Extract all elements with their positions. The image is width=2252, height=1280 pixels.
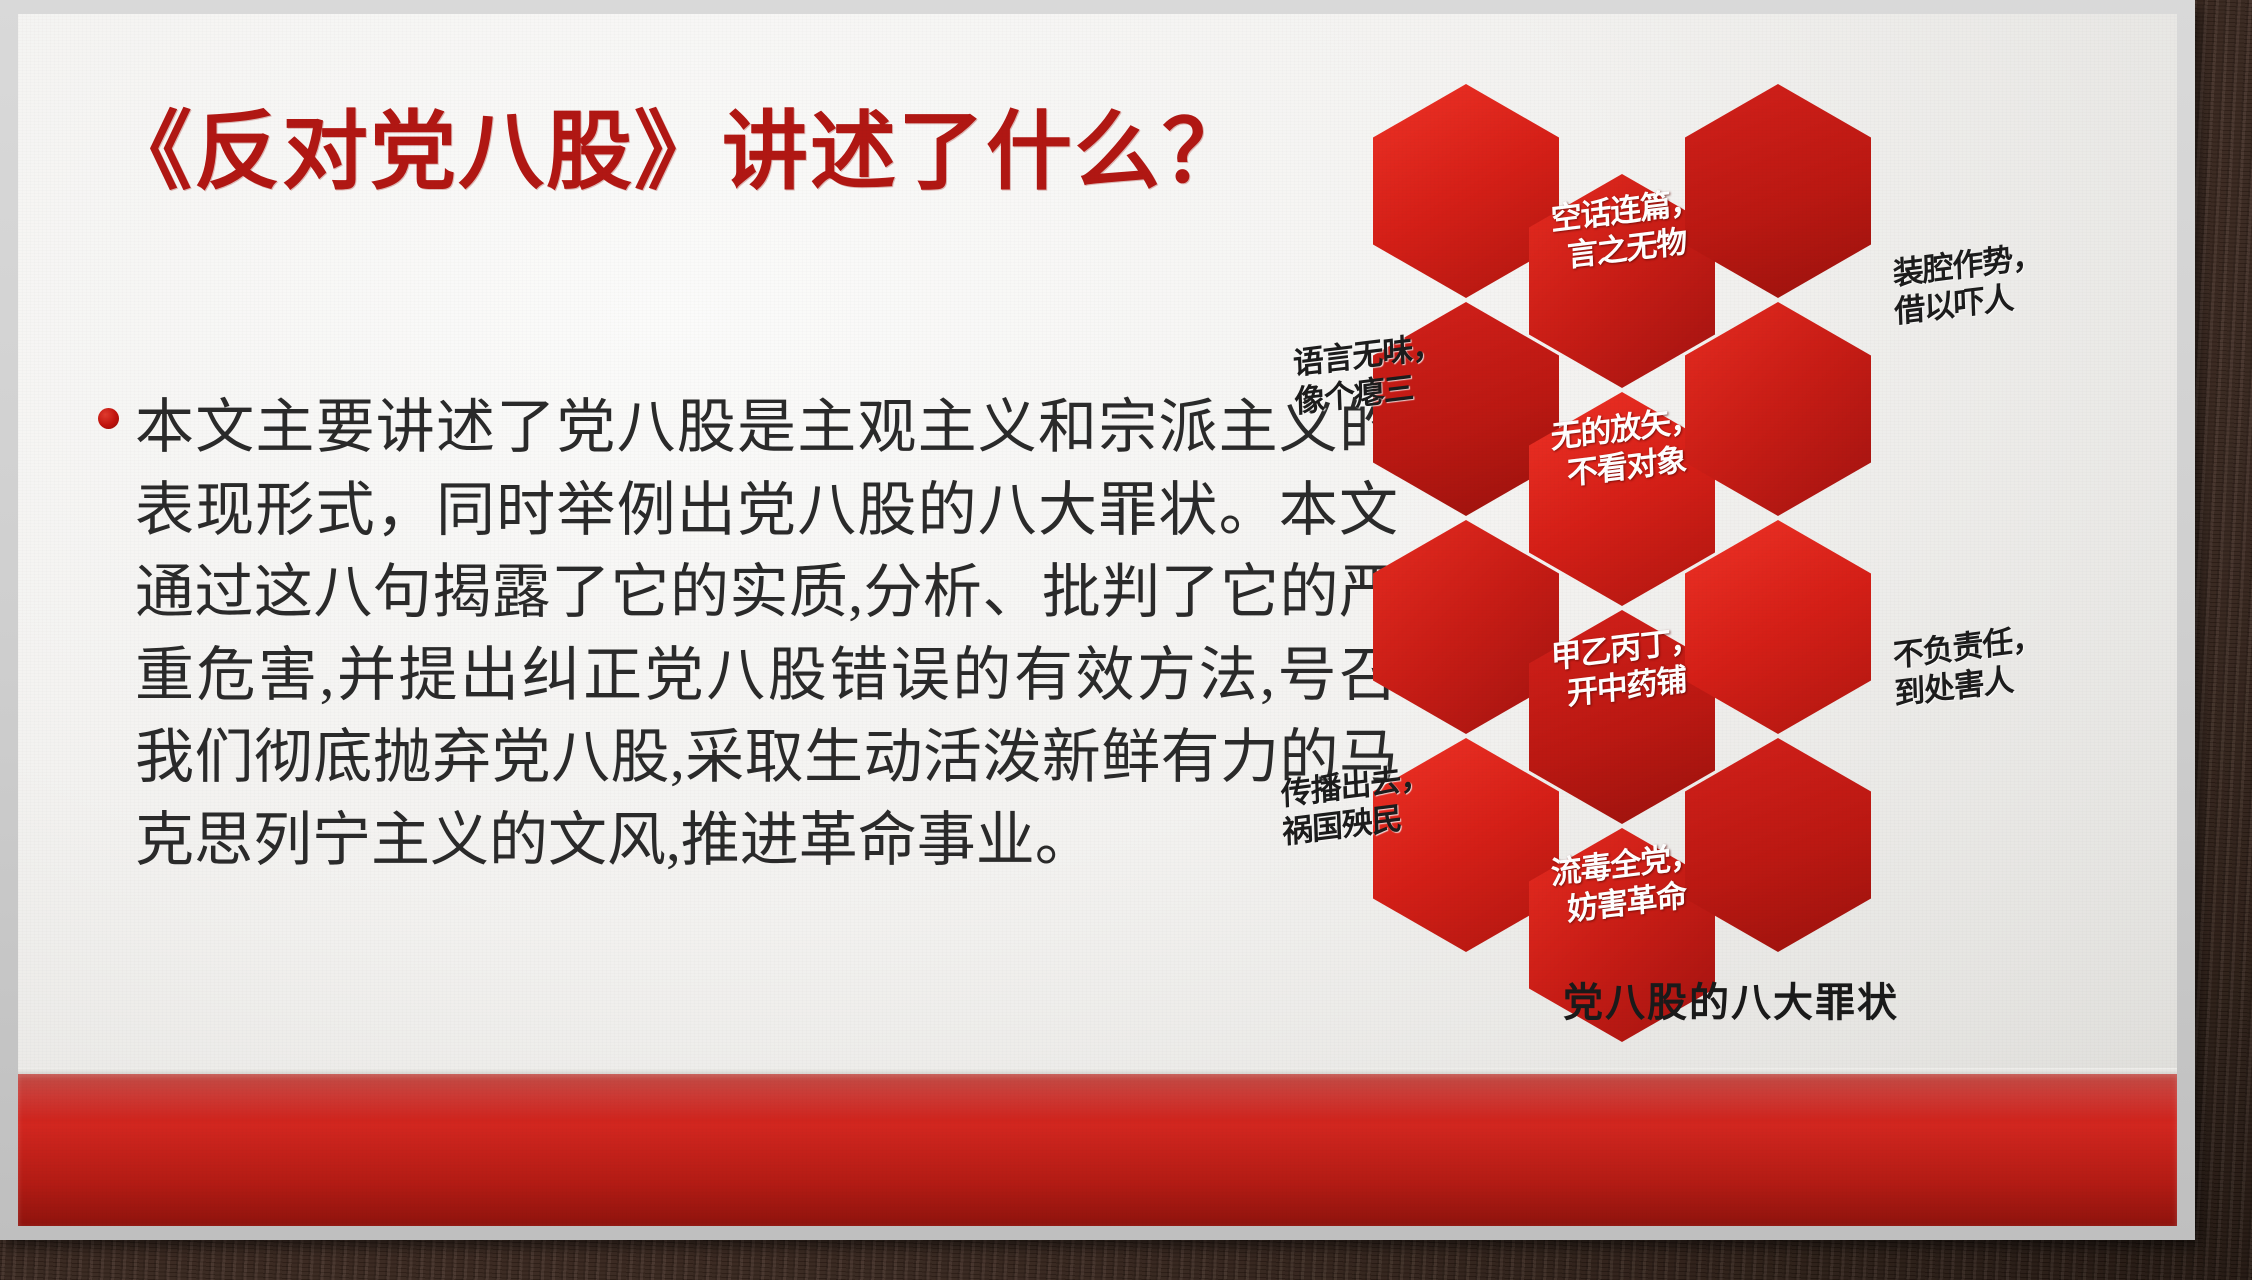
hex-label-zhuang-qiang-zuo-shi: 装腔作势， 借以吓人 — [1892, 232, 2083, 332]
body-paragraph: 本文主要讲述了党八股是主观主义和宗派主义的表现形式，同时举例出党八股的八大罪状。… — [135, 386, 1398, 882]
presentation-slide: 《反对党八股》讲述了什么？ 本文主要讲述了党八股是主观主义和宗派主义的表现形式，… — [18, 14, 2177, 1226]
slide-frame: 《反对党八股》讲述了什么？ 本文主要讲述了党八股是主观主义和宗派主义的表现形式，… — [0, 0, 2195, 1240]
diagram-caption: 党八股的八大罪状 — [1563, 970, 1899, 1028]
hex-label-bu-fu-ze-ren: 不负责任， 到处害人 — [1892, 614, 2083, 714]
page-title: 《反对党八股》讲述了什么？ — [106, 106, 1346, 199]
body-bullet-block: 本文主要讲述了党八股是主观主义和宗派主义的表现形式，同时举例出党八股的八大罪状。… — [98, 386, 1398, 882]
footer-band — [18, 1074, 2177, 1226]
honeycomb-diagram: 空话连篇， 言之无物 无的放矢， 不看对象 甲乙丙丁， 开中药铺 流毒全党， 妨… — [1353, 74, 2153, 1084]
bullet-dot-icon — [98, 408, 119, 429]
desktop-background: 《反对党八股》讲述了什么？ 本文主要讲述了党八股是主观主义和宗派主义的表现形式，… — [0, 0, 2252, 1280]
footer-gloss — [18, 1074, 2177, 1120]
